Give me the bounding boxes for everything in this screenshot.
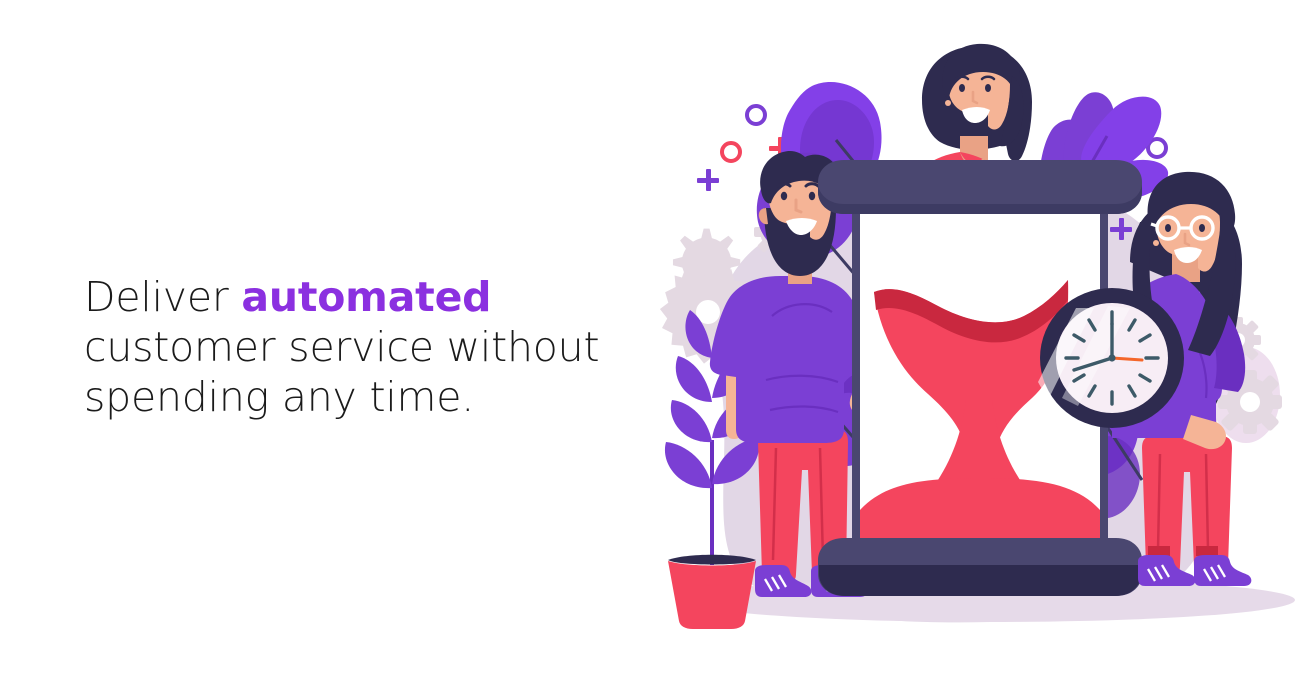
cuff-right xyxy=(1196,546,1218,556)
headline-text-before: Deliver xyxy=(84,273,241,321)
earring xyxy=(1153,240,1159,246)
headline-block: Deliver automated customer service witho… xyxy=(84,272,674,422)
hourglass-base-shadow xyxy=(819,565,1141,596)
circle-decor-red xyxy=(722,143,740,161)
eye-left xyxy=(781,192,787,200)
clock-center-pin xyxy=(1108,354,1115,361)
clock-second-hand xyxy=(1112,358,1142,360)
eye-left xyxy=(959,84,965,92)
circle-decor-purple xyxy=(747,106,765,124)
plant-pot xyxy=(668,561,756,629)
eye-right xyxy=(1199,224,1205,232)
cuff-left xyxy=(1148,546,1170,556)
page-title: Deliver automated customer service witho… xyxy=(84,272,674,422)
headline-accent-word: automated xyxy=(241,273,491,321)
hourglass-post-left xyxy=(852,190,860,554)
shoe-right xyxy=(1194,555,1251,586)
eye-left xyxy=(1165,224,1171,232)
hero-illustration xyxy=(660,40,1300,640)
earring xyxy=(945,100,951,106)
eye-right xyxy=(809,192,815,200)
eye-right xyxy=(985,84,991,92)
hero-banner: Deliver automated customer service witho… xyxy=(0,0,1300,680)
plus-decor-purple xyxy=(697,169,719,191)
